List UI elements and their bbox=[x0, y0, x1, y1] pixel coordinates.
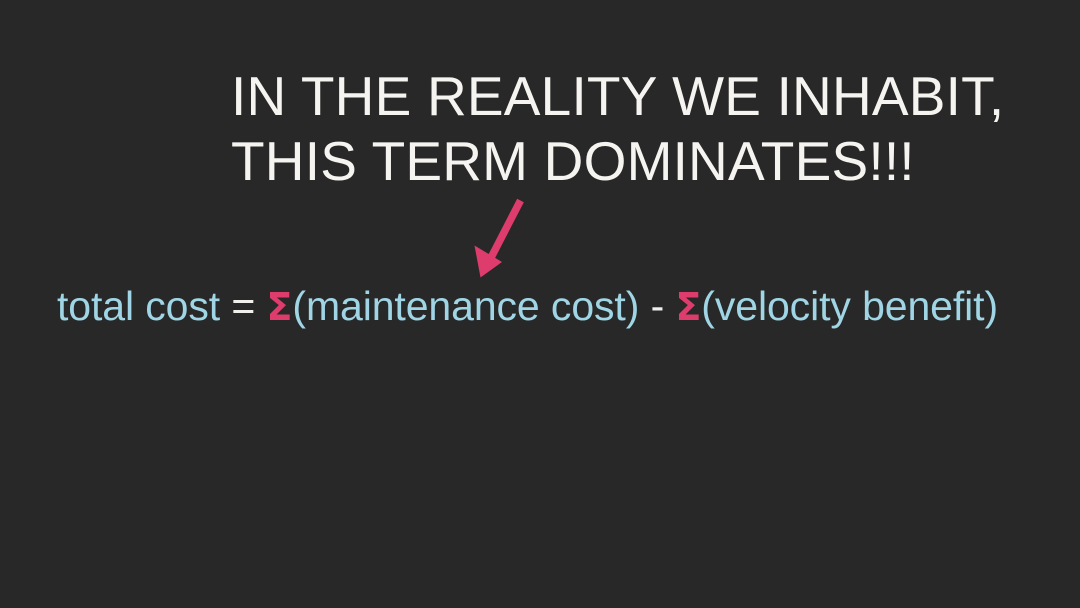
formula-term-13: velocity benefit bbox=[715, 283, 985, 329]
formula-term-6: maintenance cost bbox=[306, 283, 626, 329]
arrow-shaft bbox=[488, 201, 521, 265]
formula-operator-9: - bbox=[651, 283, 665, 329]
formula-operator-2: = bbox=[231, 283, 255, 329]
formula-space-3 bbox=[255, 283, 266, 329]
summation-symbol-11: Σ bbox=[675, 285, 701, 329]
presentation-slide: IN THE REALITY WE INHABIT, THIS TERM DOM… bbox=[0, 0, 1080, 608]
arrow-down-left-icon bbox=[462, 188, 542, 288]
formula-term-0: total cost bbox=[57, 283, 220, 329]
arrow-svg bbox=[462, 188, 542, 288]
title-line-2: THIS TERM DOMINATES!!! bbox=[231, 129, 991, 194]
summation-symbol-4: Σ bbox=[267, 285, 293, 329]
formula-space-10 bbox=[664, 283, 675, 329]
formula-paren-5: ( bbox=[292, 283, 306, 329]
formula-space-1 bbox=[220, 283, 231, 329]
formula-paren-7: ) bbox=[626, 283, 640, 329]
slide-title: IN THE REALITY WE INHABIT, THIS TERM DOM… bbox=[231, 64, 991, 194]
title-line-1: IN THE REALITY WE INHABIT, bbox=[231, 64, 991, 129]
formula-paren-14: ) bbox=[984, 283, 998, 329]
formula-paren-12: ( bbox=[701, 283, 715, 329]
cost-formula: total cost = Σ(maintenance cost) - Σ(vel… bbox=[57, 281, 998, 332]
formula-space-8 bbox=[639, 283, 650, 329]
arrow-head bbox=[475, 246, 503, 278]
